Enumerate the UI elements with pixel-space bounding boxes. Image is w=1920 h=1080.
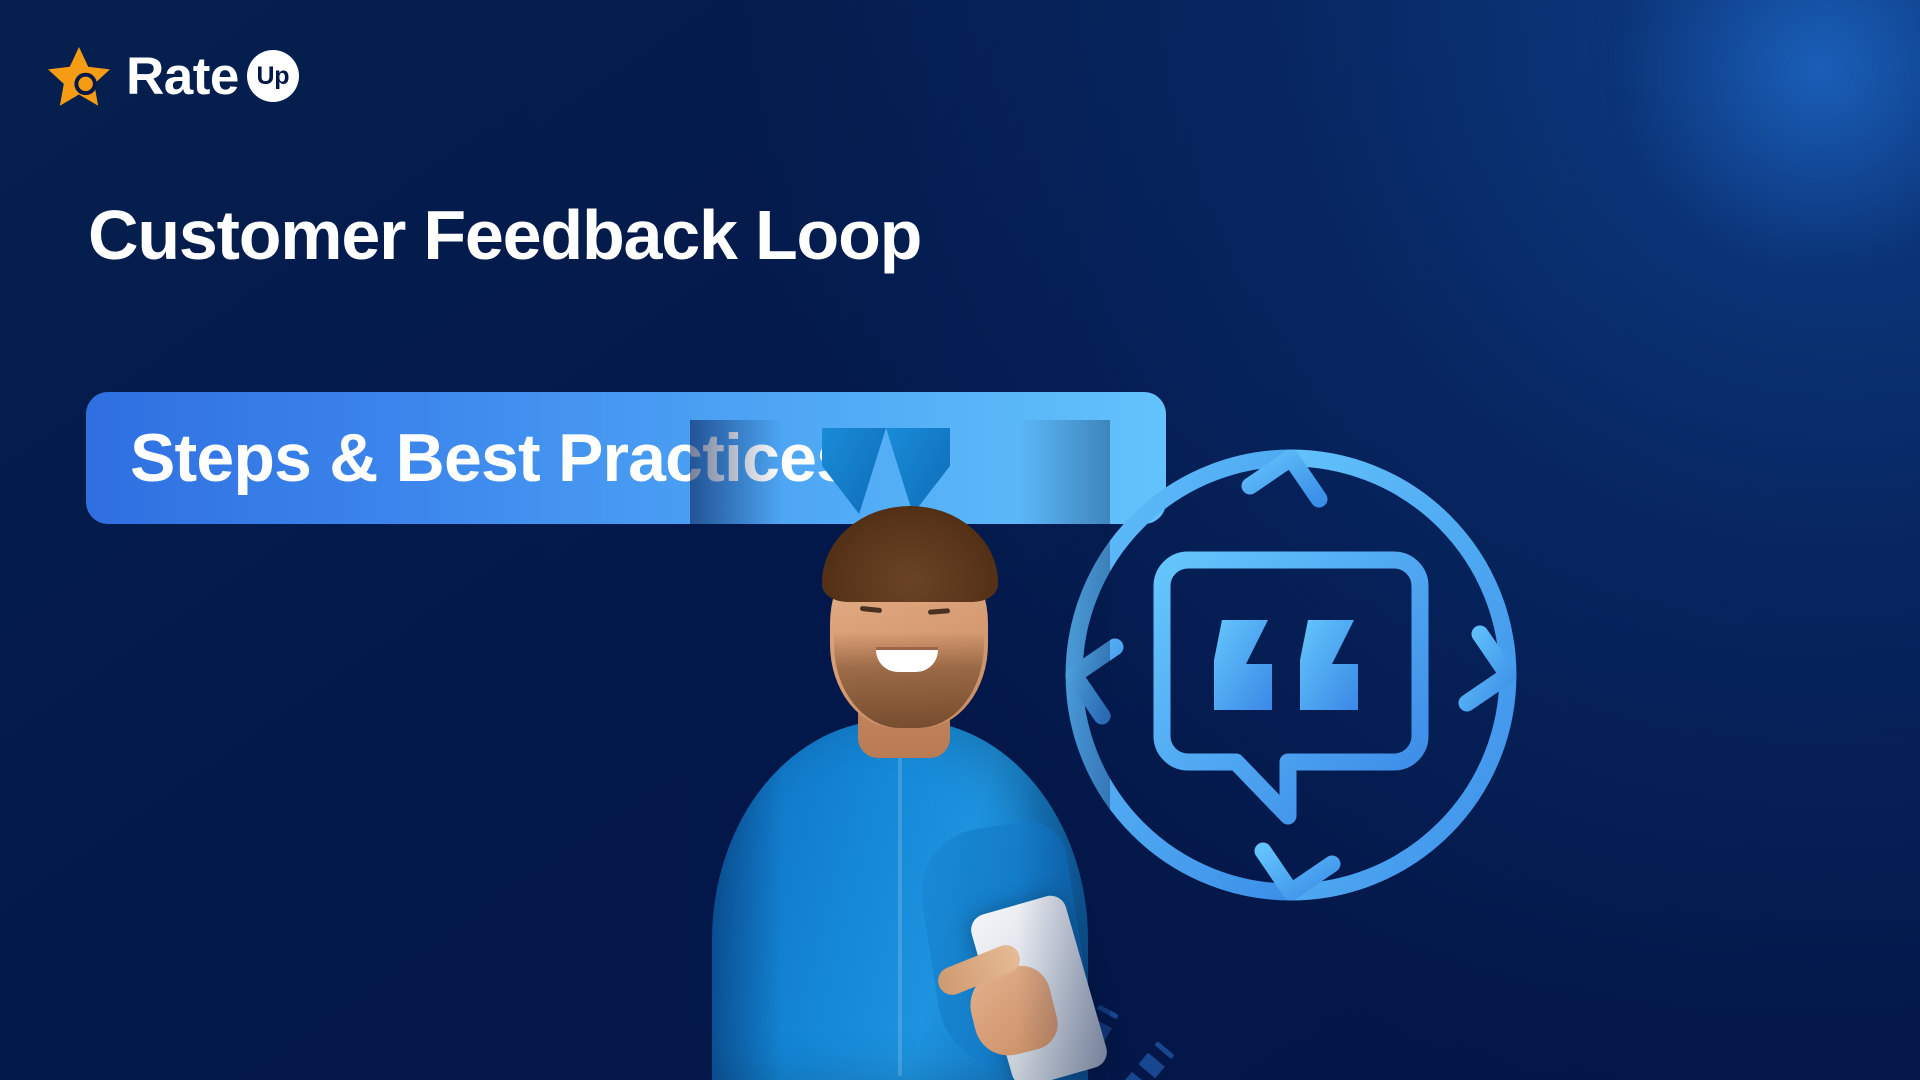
- brand-wordmark: Rate Up: [126, 50, 299, 103]
- brand-logo[interactable]: Rate Up: [46, 40, 299, 112]
- feedback-loop-banner: Rate Up Customer Feedback Loop Steps & B…: [0, 0, 1920, 1080]
- brand-name: Rate: [126, 50, 239, 103]
- brand-badge: Up: [247, 50, 299, 102]
- star-logo-icon: [46, 43, 112, 109]
- feedback-loop-icon: [1036, 420, 1546, 930]
- quote-bubble-icon: [1162, 560, 1420, 816]
- smiling-man-with-phone: [690, 420, 1110, 1080]
- page-title: Customer Feedback Loop: [88, 198, 921, 274]
